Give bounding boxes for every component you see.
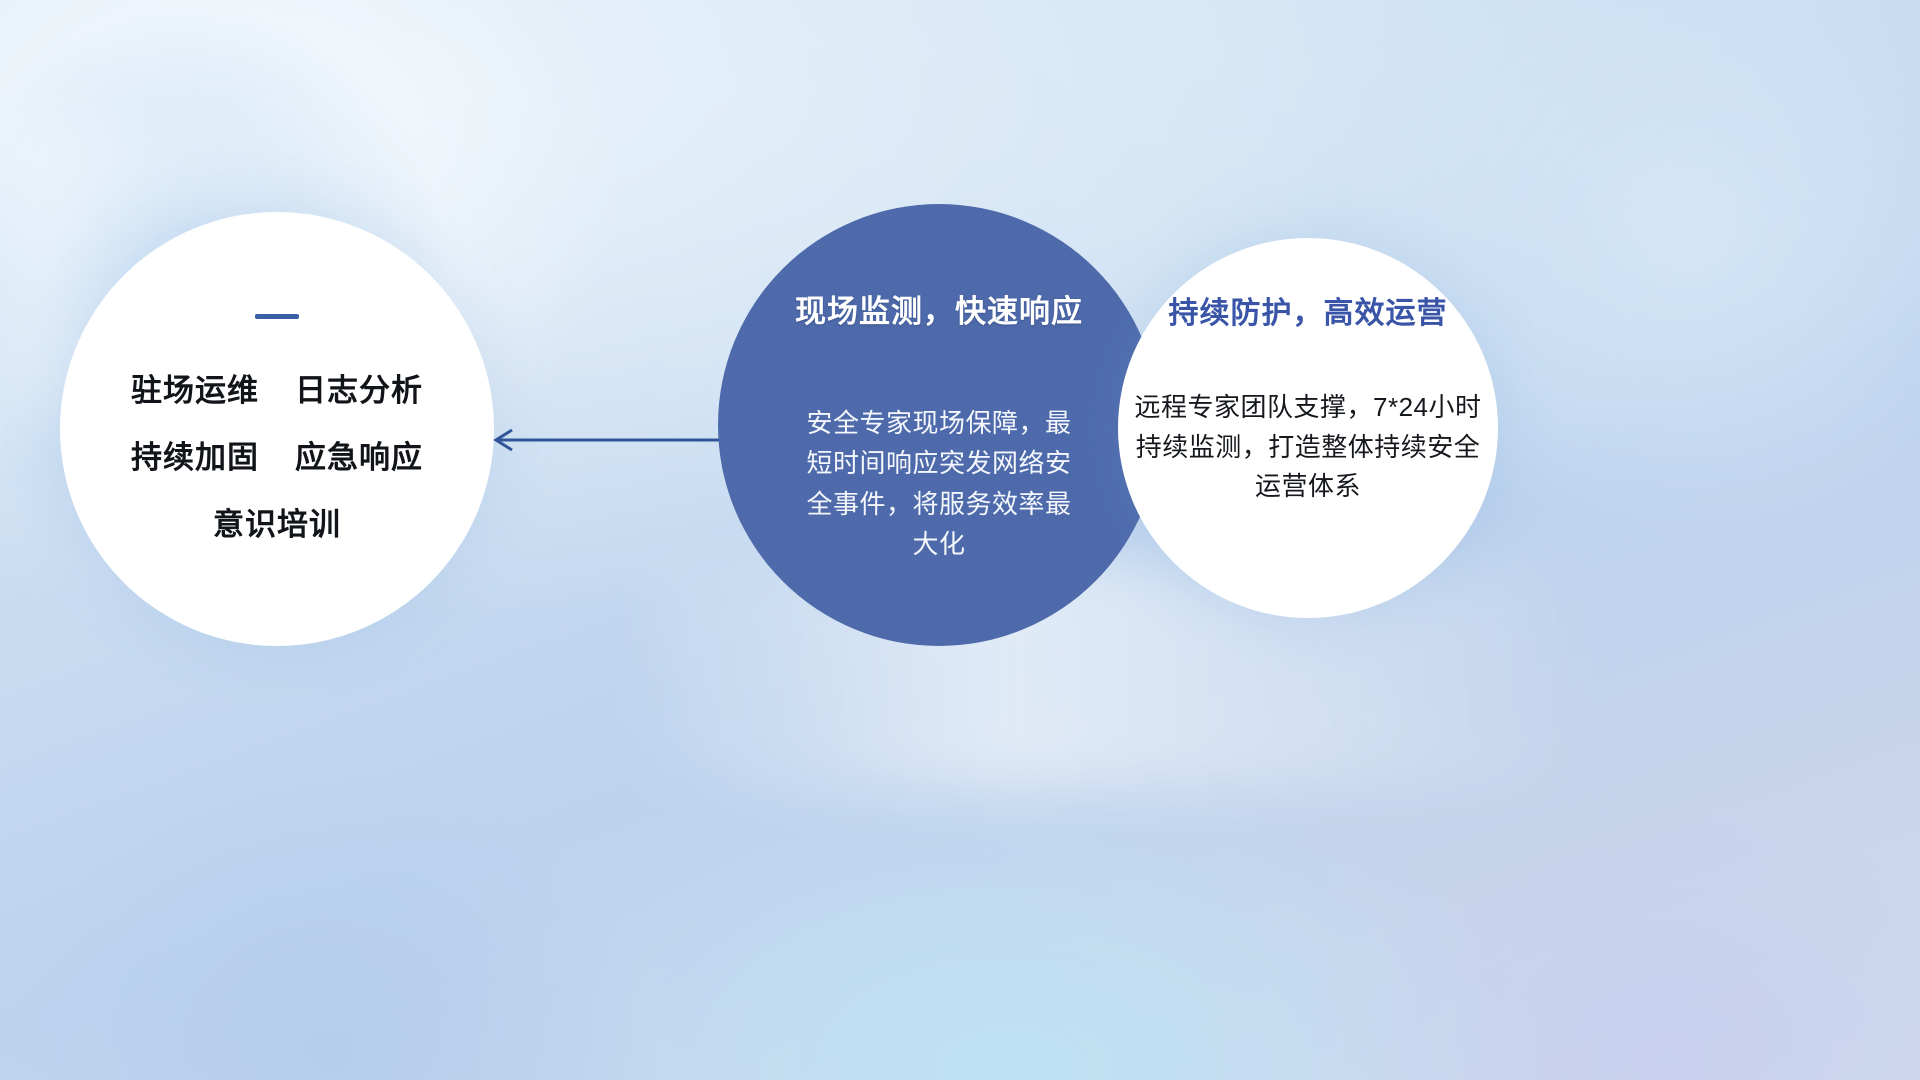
onsite-circle-title: 现场监测，快速响应 — [795, 286, 1083, 331]
capability-row: 持续加固 应急响应 — [131, 432, 423, 477]
continuous-circle-body: 远程专家团队支撑，7*24小时持续监测，打造整体持续安全运营体系 — [1132, 388, 1484, 507]
capability-item: 日志分析 — [295, 365, 423, 410]
background-light-streak — [620, 560, 1600, 790]
capability-item: 应急响应 — [295, 432, 423, 477]
capability-item: 意识培训 — [213, 499, 341, 544]
arrow-left-icon — [486, 412, 726, 468]
capability-row: 意识培训 — [213, 499, 341, 544]
onsite-circle-body: 安全专家现场保障，最短时间响应突发网络安全事件，将服务效率最大化 — [796, 403, 1082, 564]
continuous-circle-title: 持续防护，高效运营 — [1169, 288, 1448, 332]
capability-rows: 驻场运维 日志分析 持续加固 应急响应 意识培训 — [131, 365, 423, 544]
capabilities-circle: 驻场运维 日志分析 持续加固 应急响应 意识培训 — [60, 212, 494, 646]
capability-item: 驻场运维 — [131, 365, 259, 410]
onsite-monitoring-circle: 现场监测，快速响应 安全专家现场保障，最短时间响应突发网络安全事件，将服务效率最… — [718, 204, 1160, 646]
capability-row: 驻场运维 日志分析 — [131, 365, 423, 410]
capability-item: 持续加固 — [131, 432, 259, 477]
divider-dash — [255, 314, 299, 319]
flow-arrow-left — [486, 412, 726, 473]
continuous-protection-circle: 持续防护，高效运营 远程专家团队支撑，7*24小时持续监测，打造整体持续安全运营… — [1118, 238, 1498, 618]
